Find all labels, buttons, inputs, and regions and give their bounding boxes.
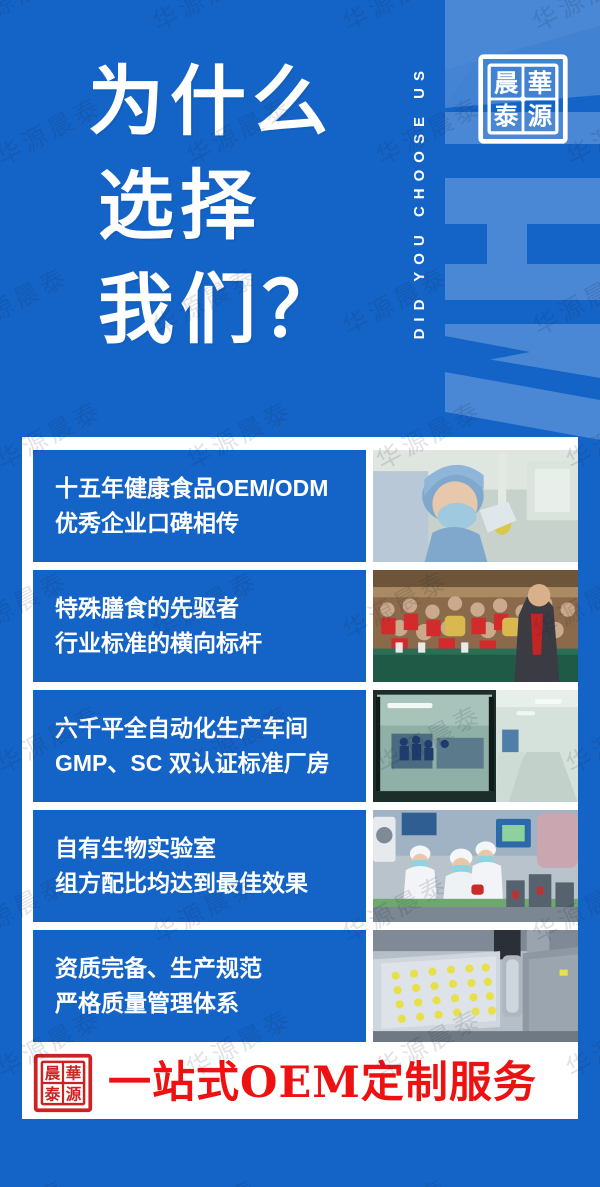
card-text-block: 六千平全自动化生产车间 GMP、SC 双认证标准厂房 <box>33 690 366 802</box>
svg-text:泰: 泰 <box>44 1085 61 1104</box>
brand-seal-icon: 晨 華 泰 源 <box>476 52 570 146</box>
svg-text:華: 華 <box>66 1064 82 1083</box>
card-line: 组方配比均达到最佳效果 <box>55 866 366 901</box>
headline-line-1: 为什么 <box>88 50 344 154</box>
footer-slogan: 一站式OEM定制服务 <box>108 1062 537 1105</box>
card-line: 严格质量管理体系 <box>55 986 366 1021</box>
card-line: 六千平全自动化生产车间 <box>55 711 366 746</box>
card-photo-conference-audience <box>373 570 578 682</box>
card-photo-capsule-packaging-machine <box>373 930 578 1042</box>
svg-text:源: 源 <box>66 1085 82 1104</box>
svg-text:晨: 晨 <box>45 1064 61 1083</box>
poster-root: 为什么 选择 我们？ DID YOU CHOOSE US 晨 華 泰 源 <box>0 0 600 1187</box>
benefit-card-list: 十五年健康食品OEM/ODM 优秀企业口碑相传 <box>33 450 578 1042</box>
svg-text:晨: 晨 <box>494 68 519 97</box>
page-title: 为什么 选择 我们？ <box>88 50 344 362</box>
card-text-block: 十五年健康食品OEM/ODM 优秀企业口碑相传 <box>33 450 366 562</box>
card-line: GMP、SC 双认证标准厂房 <box>55 746 366 781</box>
headline-line-2: 选择 <box>88 154 344 258</box>
list-item[interactable]: 特殊膳食的先驱者 行业标准的横向标杆 <box>33 570 578 682</box>
card-line: 特殊膳食的先驱者 <box>55 591 366 626</box>
svg-text:源: 源 <box>528 101 553 130</box>
card-line: 资质完备、生产规范 <box>55 951 366 986</box>
card-text-block: 资质完备、生产规范 严格质量管理体系 <box>33 930 366 1042</box>
list-item[interactable]: 资质完备、生产规范 严格质量管理体系 <box>33 930 578 1042</box>
card-line: 行业标准的横向标杆 <box>55 626 366 661</box>
poster-header: 为什么 选择 我们？ DID YOU CHOOSE US 晨 華 泰 源 <box>0 0 600 437</box>
list-item[interactable]: 六千平全自动化生产车间 GMP、SC 双认证标准厂房 <box>33 690 578 802</box>
card-photo-cleanroom-corridor <box>373 690 578 802</box>
vertical-tagline-text: DID YOU CHOOSE US <box>411 64 428 339</box>
card-text-block: 特殊膳食的先驱者 行业标准的横向标杆 <box>33 570 366 682</box>
card-photo-production-line-workers <box>373 810 578 922</box>
vertical-tagline: DID YOU CHOOSE US <box>404 12 434 392</box>
card-line: 优秀企业口碑相传 <box>55 506 366 541</box>
card-photo-lab-technician <box>373 450 578 562</box>
footer-brand-seal-icon: 晨 華 泰 源 <box>32 1052 94 1114</box>
svg-text:泰: 泰 <box>494 101 519 130</box>
card-line: 十五年健康食品OEM/ODM <box>55 471 366 506</box>
card-text-block: 自有生物实验室 组方配比均达到最佳效果 <box>33 810 366 922</box>
card-line: 自有生物实验室 <box>55 831 366 866</box>
footer-bar: 晨 華 泰 源 一站式OEM定制服务 <box>22 1047 578 1119</box>
svg-text:華: 華 <box>528 68 552 97</box>
list-item[interactable]: 十五年健康食品OEM/ODM 优秀企业口碑相传 <box>33 450 578 562</box>
list-item[interactable]: 自有生物实验室 组方配比均达到最佳效果 <box>33 810 578 922</box>
headline-line-3: 我们？ <box>88 258 344 362</box>
